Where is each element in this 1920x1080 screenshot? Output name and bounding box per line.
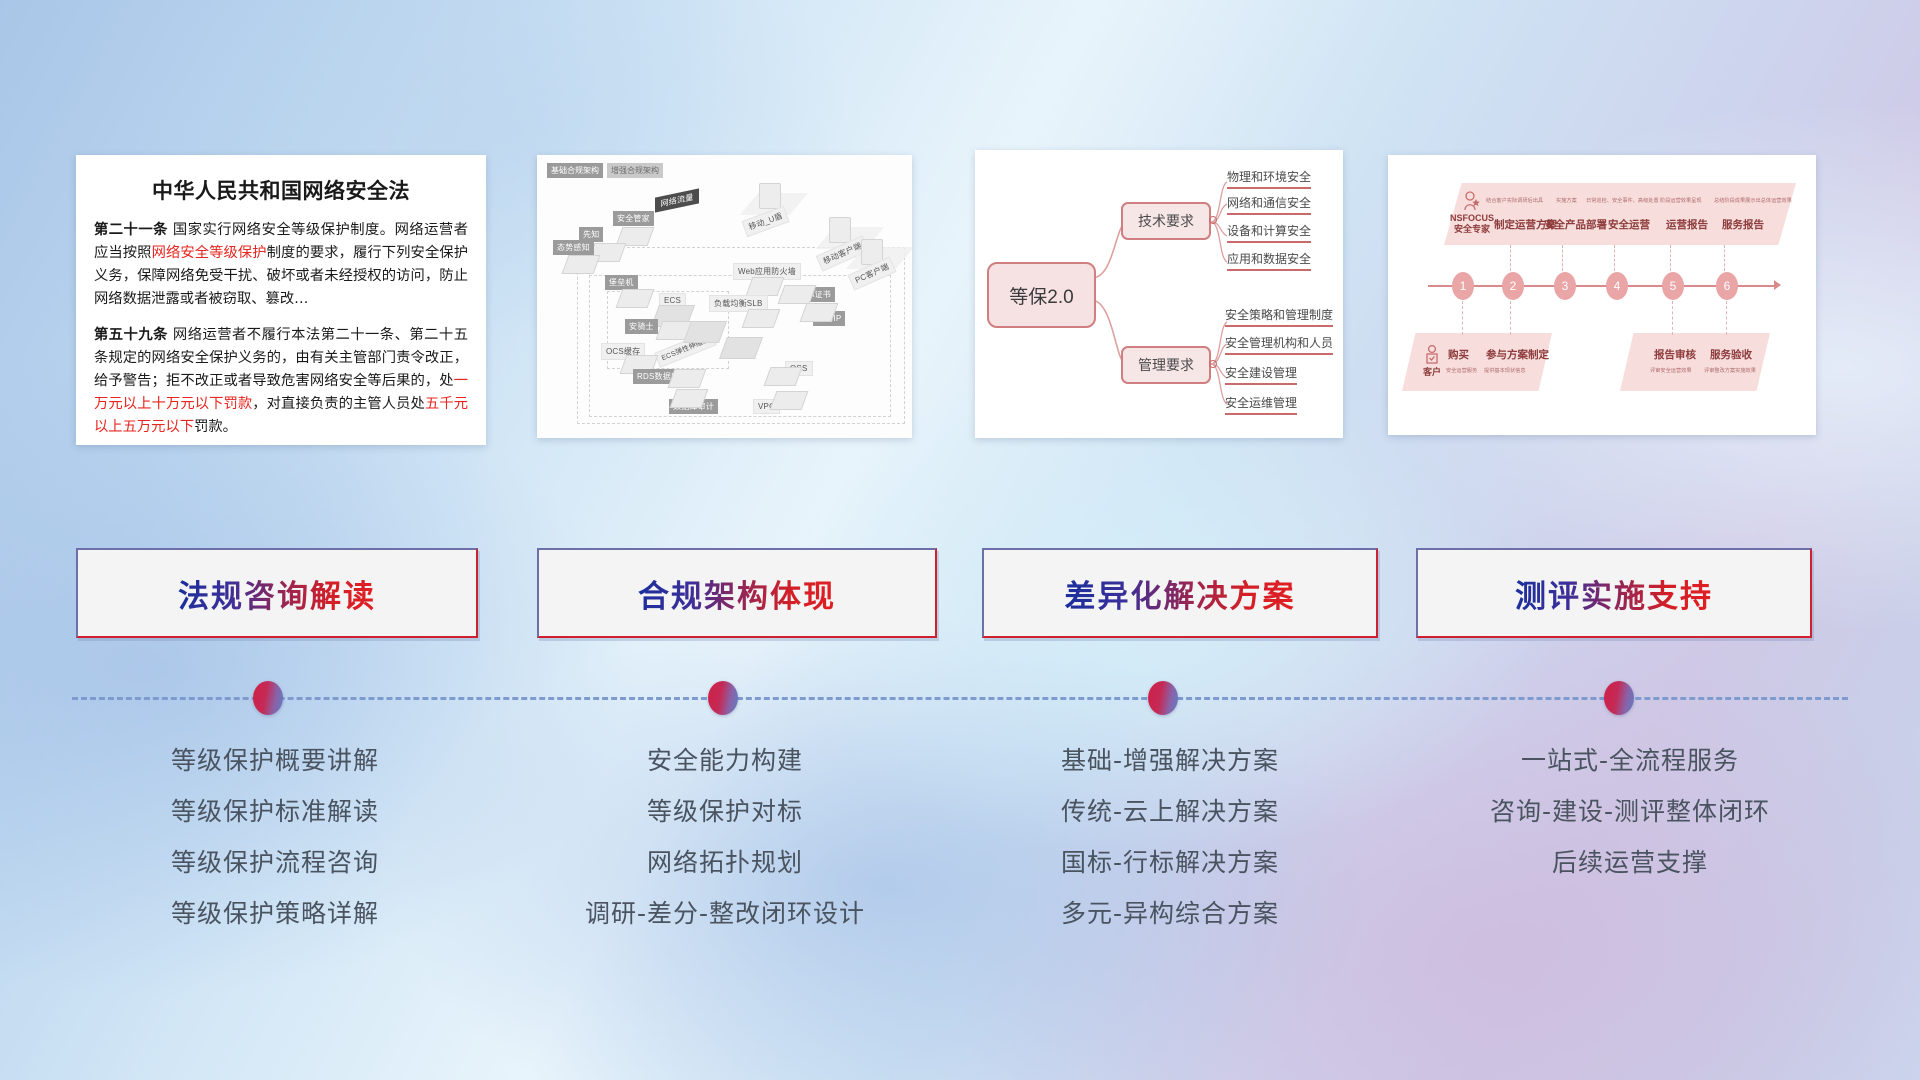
timeline-marker-1 [253,681,283,715]
list-item: 等级保护对标 [505,786,945,837]
section-heading-box-1[interactable]: 法规咨询解读 [76,548,478,638]
section-heading-box-3[interactable]: 差异化解决方案 [982,548,1378,638]
timeline-marker-4 [1604,681,1634,715]
section-heading-label-1: 法规咨询解读 [178,571,376,616]
section-heading-box-2[interactable]: 合规架构体现 [537,548,937,638]
timeline-marker-3 [1148,681,1178,715]
section-detail-column-1: 等级保护概要讲解 等级保护标准解读 等级保护流程咨询 等级保护策略详解 [55,735,495,939]
list-item: 传统-云上解决方案 [950,786,1390,837]
list-item: 等级保护概要讲解 [55,735,495,786]
list-item: 一站式-全流程服务 [1400,735,1860,786]
section-heading-label-3: 差异化解决方案 [1065,571,1296,616]
section-detail-column-3: 基础-增强解决方案 传统-云上解决方案 国标-行标解决方案 多元-异构综合方案 [950,735,1390,939]
list-item: 安全能力构建 [505,735,945,786]
timeline-marker-2 [708,681,738,715]
list-item: 等级保护策略详解 [55,888,495,939]
section-detail-column-2: 安全能力构建 等级保护对标 网络拓扑规划 调研-差分-整改闭环设计 [505,735,945,939]
list-item: 多元-异构综合方案 [950,888,1390,939]
list-item: 后续运营支撑 [1400,837,1860,888]
list-item: 等级保护流程咨询 [55,837,495,888]
timeline-dashed-line [72,697,1848,702]
section-heading-label-2: 合规架构体现 [638,571,836,616]
list-item: 网络拓扑规划 [505,837,945,888]
list-item: 等级保护标准解读 [55,786,495,837]
list-item: 咨询-建设-测评整体闭环 [1400,786,1860,837]
section-heading-label-4: 测评实施支持 [1515,571,1713,616]
list-item: 基础-增强解决方案 [950,735,1390,786]
section-detail-column-4: 一站式-全流程服务 咨询-建设-测评整体闭环 后续运营支撑 [1400,735,1860,888]
list-item: 国标-行标解决方案 [950,837,1390,888]
list-item: 调研-差分-整改闭环设计 [505,888,945,939]
section-detail-columns: 等级保护概要讲解 等级保护标准解读 等级保护流程咨询 等级保护策略详解 安全能力… [0,735,1920,985]
section-heading-box-4[interactable]: 测评实施支持 [1416,548,1812,638]
